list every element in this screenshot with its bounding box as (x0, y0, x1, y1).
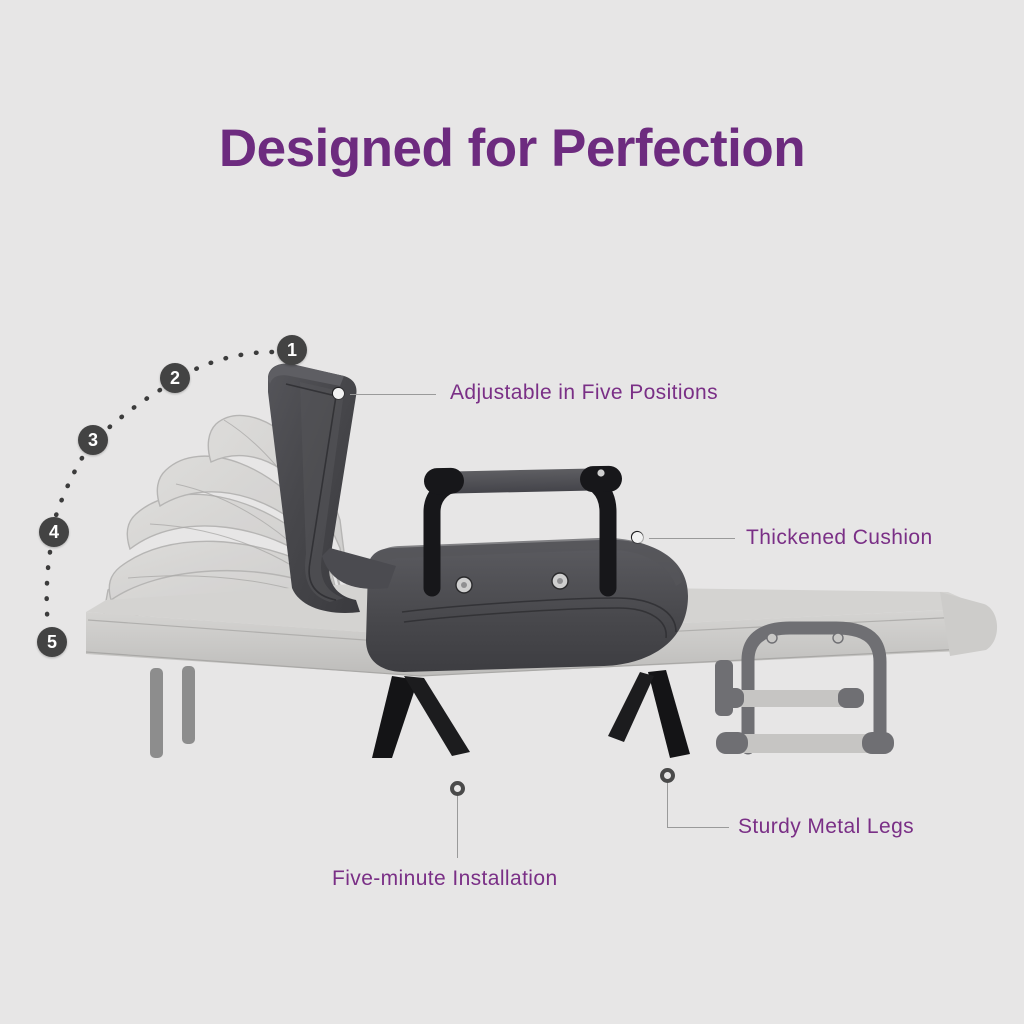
position-badge-3[interactable]: 3 (78, 425, 108, 455)
callout-adjustable-label: Adjustable in Five Positions (450, 381, 718, 405)
leader-legs-vertical (667, 783, 668, 827)
leader-installation-vertical (457, 796, 458, 858)
position-badge-2[interactable]: 2 (160, 363, 190, 393)
position-badge-1[interactable]: 1 (277, 335, 307, 365)
callout-legs-label: Sturdy Metal Legs (738, 815, 914, 839)
leader-cushion (649, 538, 735, 539)
marker-cushion (632, 532, 643, 543)
marker-adjustable (333, 388, 344, 399)
callout-cushion-label: Thickened Cushion (746, 526, 933, 550)
marker-legs (660, 768, 675, 783)
marker-installation (450, 781, 465, 796)
position-badge-4[interactable]: 4 (39, 517, 69, 547)
callout-installation-label: Five-minute Installation (332, 867, 558, 891)
leader-legs-horizontal (667, 827, 729, 828)
leader-adjustable (350, 394, 436, 395)
position-badge-5[interactable]: 5 (37, 627, 67, 657)
infographic-canvas: Designed for Perfection (0, 0, 1024, 1024)
